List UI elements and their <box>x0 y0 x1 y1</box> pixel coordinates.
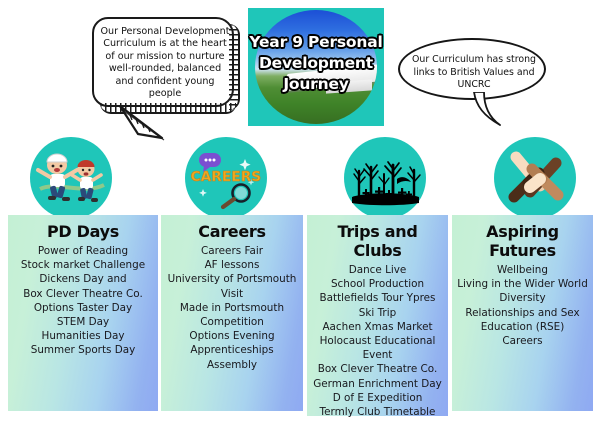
panel-aspiring-futures: Aspiring Futures WellbeingLiving in the … <box>452 215 593 411</box>
british-values-bubble: Our Curriculum has strong links to Briti… <box>398 38 546 100</box>
children-sports-glyph <box>30 137 112 219</box>
panel-item: Careers Fair <box>165 244 299 258</box>
diverse-hands-glyph <box>494 137 576 219</box>
panel-item: Dance Live <box>311 263 444 277</box>
panel-item: STEM Day <box>12 315 154 329</box>
british-values-bubble-tail-icon <box>470 92 516 128</box>
panel-item: Summer Sports Day <box>12 343 154 357</box>
panel-item: School Production <box>311 277 444 291</box>
panel-heading: Careers <box>165 222 299 241</box>
panel-item: Humanities Day <box>12 329 154 343</box>
panel-item-list: Dance LiveSchool ProductionBattlefields … <box>311 263 444 419</box>
panel-item: Visit <box>165 287 299 301</box>
panel-item: Event <box>311 348 444 362</box>
panel-item: Power of Reading <box>12 244 154 258</box>
panel-item: German Enrichment Day <box>311 377 444 391</box>
mission-statement-text: Our Personal Development Curriculum is a… <box>94 26 236 100</box>
panel-item: D of E Expedition <box>311 391 444 405</box>
mission-statement-bubble: Our Personal Development Curriculum is a… <box>92 17 234 107</box>
panel-item: AF lessons <box>165 258 299 272</box>
panel-item: Holocaust Educational <box>311 334 444 348</box>
panel-item-list: Power of ReadingStock market ChallengeDi… <box>12 244 154 358</box>
panel-trips-and-clubs: Trips and Clubs Dance LiveSchool Product… <box>307 215 448 416</box>
panel-item-list: Careers FairAF lessonsUniversity of Port… <box>165 244 299 372</box>
panel-item: Dickens Day and <box>12 272 154 286</box>
diverse-hands-icon <box>494 137 576 219</box>
panel-heading: Trips and Clubs <box>311 222 444 260</box>
panel-item: Termly Club Timetable <box>311 405 444 419</box>
panel-item: Battlefields Tour Ypres <box>311 291 444 305</box>
poster-title-card: Year 9 Personal Development Journey <box>248 8 384 126</box>
careers-icon: CAREERS <box>185 137 267 219</box>
children-sports-icon <box>30 137 112 219</box>
title-line-2: Development <box>248 53 384 74</box>
panel-item: Ski Trip <box>311 306 444 320</box>
panel-item: Wellbeing <box>456 263 589 277</box>
battlefield-trees-icon <box>344 137 426 219</box>
panel-item: Box Clever Theatre Co. <box>311 362 444 376</box>
panel-item: Stock market Challenge <box>12 258 154 272</box>
panel-item: Competition <box>165 315 299 329</box>
panel-item: Assembly <box>165 358 299 372</box>
panel-careers: Careers Careers FairAF lessonsUniversity… <box>161 215 303 411</box>
panel-pd-days: PD Days Power of ReadingStock market Cha… <box>8 215 158 411</box>
title-line-1: Year 9 Personal <box>248 32 384 53</box>
panel-item: Education (RSE) <box>456 320 589 334</box>
panel-item: Careers <box>456 334 589 348</box>
careers-glyph: CAREERS <box>185 137 267 219</box>
svg-text:CAREERS: CAREERS <box>191 169 262 185</box>
panel-item: Options Evening <box>165 329 299 343</box>
page-title: Year 9 Personal Development Journey <box>248 32 384 95</box>
panel-item: Apprenticeships <box>165 343 299 357</box>
panel-item: Made in Portsmouth <box>165 301 299 315</box>
panel-item: Diversity <box>456 291 589 305</box>
panel-item: Options Taster Day <box>12 301 154 315</box>
mission-bubble-tail-icon <box>118 104 182 150</box>
panel-item: Box Clever Theatre Co. <box>12 287 154 301</box>
panel-item: Living in the Wider World <box>456 277 589 291</box>
british-values-text: Our Curriculum has strong links to Briti… <box>400 54 548 92</box>
battlefield-trees-glyph <box>344 137 426 219</box>
panel-heading: PD Days <box>12 222 154 241</box>
panel-item: Relationships and Sex <box>456 306 589 320</box>
panel-item: University of Portsmouth <box>165 272 299 286</box>
panel-heading: Aspiring Futures <box>456 222 589 260</box>
panel-item-list: WellbeingLiving in the Wider WorldDivers… <box>456 263 589 348</box>
title-line-3: Journey <box>248 74 384 95</box>
panel-item: Aachen Xmas Market <box>311 320 444 334</box>
personal-development-poster: Year 9 Personal Development Journey Our … <box>0 0 600 424</box>
